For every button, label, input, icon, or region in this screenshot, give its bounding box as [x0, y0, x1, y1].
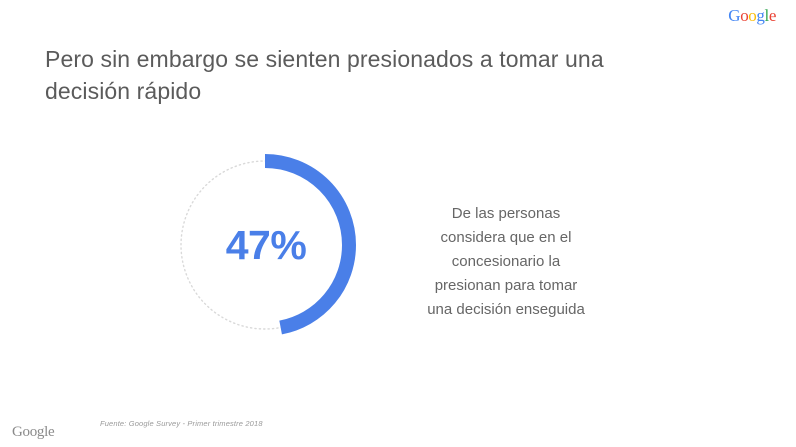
donut-chart: 47%: [173, 153, 357, 337]
slide-title-line-2: decisión rápido: [45, 78, 201, 104]
google-logo-letter-e: e: [769, 6, 776, 25]
callout-line-5: una decisión enseguida: [390, 298, 622, 322]
callout-line-4: presionan para tomar: [390, 274, 622, 298]
slide-canvas: Google Pero sin embargo se sienten presi…: [0, 0, 796, 447]
callout-paragraph: De las personas considera que en el conc…: [390, 202, 622, 322]
source-note: Fuente: Google Survey - Primer trimestre…: [100, 419, 263, 428]
slide-title: Pero sin embargo se sienten presionados …: [45, 43, 725, 107]
donut-center-value: 47%: [173, 153, 357, 337]
slide-title-line-1: Pero sin embargo se sienten presionados …: [45, 46, 604, 72]
google-logo-top: Google: [728, 7, 776, 24]
google-logo-bottom: Google: [12, 425, 54, 440]
callout-line-3: concesionario la: [390, 250, 622, 274]
callout-line-1: De las personas: [390, 202, 622, 226]
google-logo-letter-g2: g: [756, 6, 764, 25]
google-logo-letter-g1: G: [728, 6, 740, 25]
callout-line-2: considera que en el: [390, 226, 622, 250]
